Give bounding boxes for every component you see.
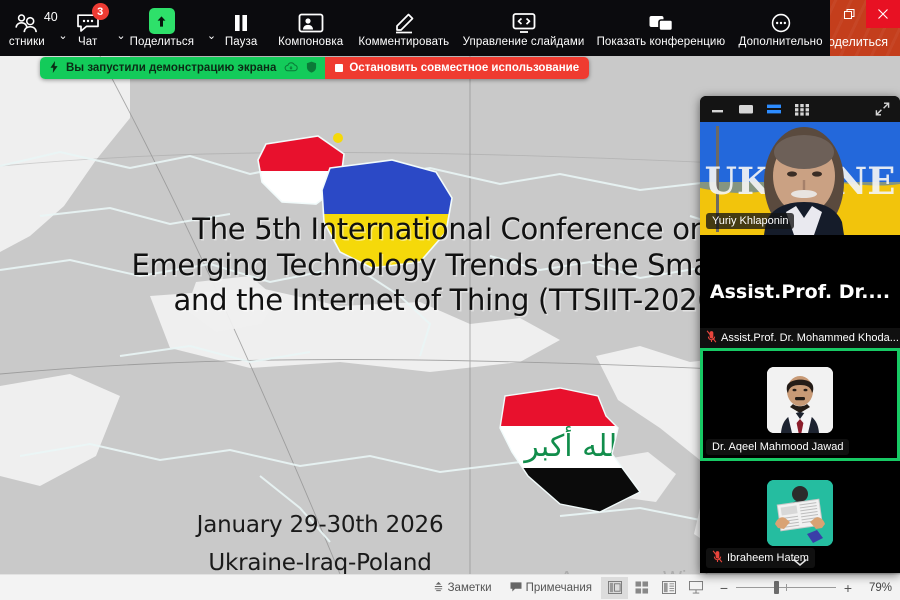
stop-square-icon bbox=[335, 64, 343, 72]
close-window-button[interactable] bbox=[866, 0, 900, 28]
layout-icon bbox=[298, 8, 324, 34]
notes-icon bbox=[433, 581, 444, 595]
screen-share-status-bar: Вы запустили демонстрацию экрана Останов… bbox=[40, 57, 589, 79]
zoom-control[interactable]: − + 79% bbox=[719, 580, 892, 596]
annotate-pencil-icon bbox=[392, 8, 416, 34]
mic-muted-icon bbox=[706, 330, 717, 346]
zoom-slider[interactable] bbox=[736, 582, 836, 594]
more-options-label: Дополнительно bbox=[739, 36, 823, 48]
zoom-meeting-toolbar: 40 стники ⌄ 3 Чат ⌄ Поделиться bbox=[0, 0, 830, 56]
expand-icon[interactable] bbox=[875, 102, 890, 116]
shield-icon[interactable] bbox=[306, 61, 317, 76]
slide-places: Ukraine-Iraq-Poland bbox=[0, 550, 640, 574]
cloud-recording-icon[interactable] bbox=[284, 61, 298, 76]
bolt-icon bbox=[50, 61, 58, 76]
participants-icon: 40 bbox=[14, 8, 40, 34]
reading-view-button[interactable] bbox=[655, 577, 682, 599]
show-meeting-icon bbox=[648, 8, 674, 34]
strip-view-icon[interactable] bbox=[766, 103, 782, 115]
chat-label: Чат bbox=[78, 36, 97, 48]
video-tile-yuriy[interactable]: UK NE Yuriy Khlaponin bbox=[700, 122, 900, 235]
svg-text:الله أكبر: الله أكبر bbox=[522, 425, 625, 464]
more-dots-icon bbox=[769, 8, 793, 34]
zoom-slider-midmark bbox=[786, 584, 787, 591]
pause-label: Пауза bbox=[225, 36, 257, 48]
slide-control-icon bbox=[511, 8, 537, 34]
slide-date: January 29-30th 2026 bbox=[0, 512, 640, 538]
stop-share-label: Остановить совместное использование bbox=[349, 62, 579, 74]
pause-share-button[interactable]: Пауза bbox=[212, 0, 270, 56]
notes-label: Заметки bbox=[448, 582, 492, 594]
participant-count: 40 bbox=[44, 10, 58, 24]
participant-name-label: Assist.Prof. Dr. Mohammed Khoda... bbox=[700, 328, 900, 348]
participants-label: стники bbox=[9, 36, 45, 48]
zoom-percentage[interactable]: 79% bbox=[860, 582, 892, 594]
chat-unread-badge: 3 bbox=[92, 3, 109, 20]
share-screen-button[interactable]: Поделиться ⌄ bbox=[122, 0, 212, 56]
show-meeting-button[interactable]: Показать конференцию bbox=[591, 0, 732, 56]
sharing-status-chip: Вы запустили демонстрацию экрана bbox=[40, 57, 325, 79]
video-tile-aqeel[interactable]: Dr. Aqeel Mahmood Jawad bbox=[700, 348, 900, 461]
zoom-slider-thumb[interactable] bbox=[774, 581, 779, 594]
comments-button[interactable]: Примечания bbox=[501, 577, 601, 599]
pause-icon bbox=[231, 8, 251, 34]
comment-bubble-icon bbox=[510, 581, 522, 595]
video-tile-ibraheem[interactable]: Ibraheem Hatem bbox=[700, 461, 900, 573]
layout-button[interactable]: Компоновка bbox=[270, 0, 351, 56]
mic-muted-icon bbox=[712, 550, 723, 566]
slide-control-button[interactable]: Управление слайдами bbox=[456, 0, 590, 56]
slideshow-button[interactable] bbox=[682, 577, 709, 599]
stop-share-button[interactable]: Остановить совместное использование bbox=[325, 57, 589, 79]
zoom-out-button[interactable]: − bbox=[719, 580, 729, 596]
more-options-button[interactable]: Дополнительно bbox=[731, 0, 830, 56]
layout-label: Компоновка bbox=[278, 36, 343, 48]
annotate-label: Комментировать bbox=[358, 36, 449, 48]
participant-name-text: Assist.Prof. Dr. Mohammed Khoda... bbox=[721, 332, 899, 344]
filmstrip-header bbox=[700, 96, 900, 122]
chat-icon: 3 bbox=[75, 8, 101, 34]
notes-button[interactable]: Заметки bbox=[424, 577, 501, 599]
participant-name-label: Yuriy Khlaponin bbox=[706, 213, 794, 229]
video-tile-mohammed[interactable]: Assist.Prof. Dr.... Assist.Prof. Dr. Moh… bbox=[700, 235, 900, 348]
avatar bbox=[767, 367, 833, 433]
grid-view-icon[interactable] bbox=[794, 103, 810, 116]
powerpoint-status-bar: Заметки Примечания − bbox=[0, 574, 900, 600]
screen-root: Поделиться bbox=[0, 0, 900, 600]
participant-name-label: Dr. Aqeel Mahmood Jawad bbox=[706, 439, 849, 455]
normal-view-button[interactable] bbox=[601, 577, 628, 599]
chevron-down-icon[interactable] bbox=[792, 554, 808, 572]
sharing-status-text: Вы запустили демонстрацию экрана bbox=[66, 62, 276, 74]
restore-window-button[interactable] bbox=[832, 0, 866, 28]
video-filmstrip-panel: UK NE Yuriy Khlaponin Assist.Prof. Dr...… bbox=[700, 96, 900, 573]
chat-button[interactable]: 3 Чат ⌄ bbox=[64, 0, 122, 56]
slide-control-label: Управление слайдами bbox=[463, 36, 585, 48]
avatar bbox=[767, 480, 833, 546]
share-screen-icon bbox=[149, 8, 175, 34]
window-controls bbox=[832, 0, 900, 28]
participants-button[interactable]: 40 стники ⌄ bbox=[0, 0, 64, 56]
zoom-in-button[interactable]: + bbox=[843, 580, 853, 596]
show-meeting-label: Показать конференцию bbox=[597, 36, 726, 48]
comments-label: Примечания bbox=[526, 582, 592, 594]
share-screen-label: Поделиться bbox=[130, 36, 195, 48]
annotate-button[interactable]: Комментировать bbox=[351, 0, 456, 56]
single-view-icon[interactable] bbox=[738, 103, 754, 115]
minimize-icon[interactable] bbox=[710, 103, 726, 115]
slide-sorter-button[interactable] bbox=[628, 577, 655, 599]
